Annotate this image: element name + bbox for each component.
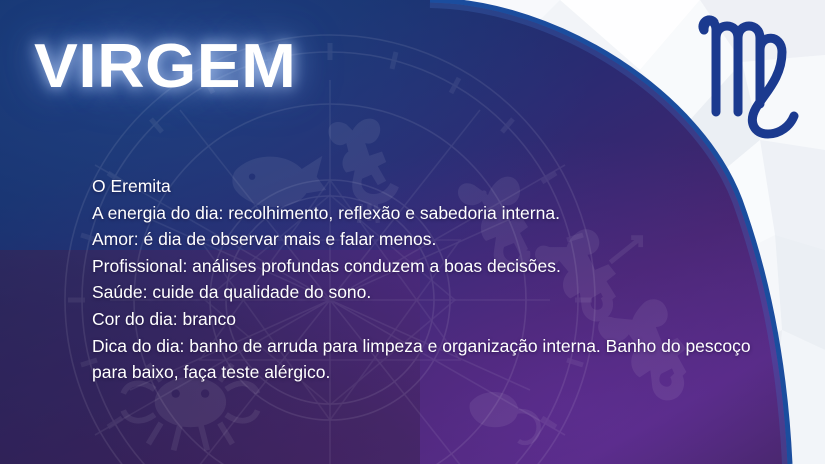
horoscope-text: O Eremita A energia do dia: recolhimento… [92, 173, 752, 386]
horoscope-card: VIRGEM O Eremita A energia do dia: recol… [0, 0, 825, 464]
horoscope-line-profissional: Profissional: análises profundas conduze… [92, 253, 752, 280]
horoscope-line-amor: Amor: é dia de observar mais e falar men… [92, 226, 752, 253]
horoscope-line-dica: Dica do dia: banho de arruda para limpez… [92, 333, 752, 386]
horoscope-line-tarot: O Eremita [92, 173, 752, 200]
page-title: VIRGEM [34, 36, 296, 98]
virgo-glyph [694, 8, 806, 148]
horoscope-line-energia: A energia do dia: recolhimento, reflexão… [92, 200, 752, 227]
horoscope-line-saude: Saúde: cuide da qualidade do sono. [92, 279, 752, 306]
horoscope-line-cor: Cor do dia: branco [92, 306, 752, 333]
